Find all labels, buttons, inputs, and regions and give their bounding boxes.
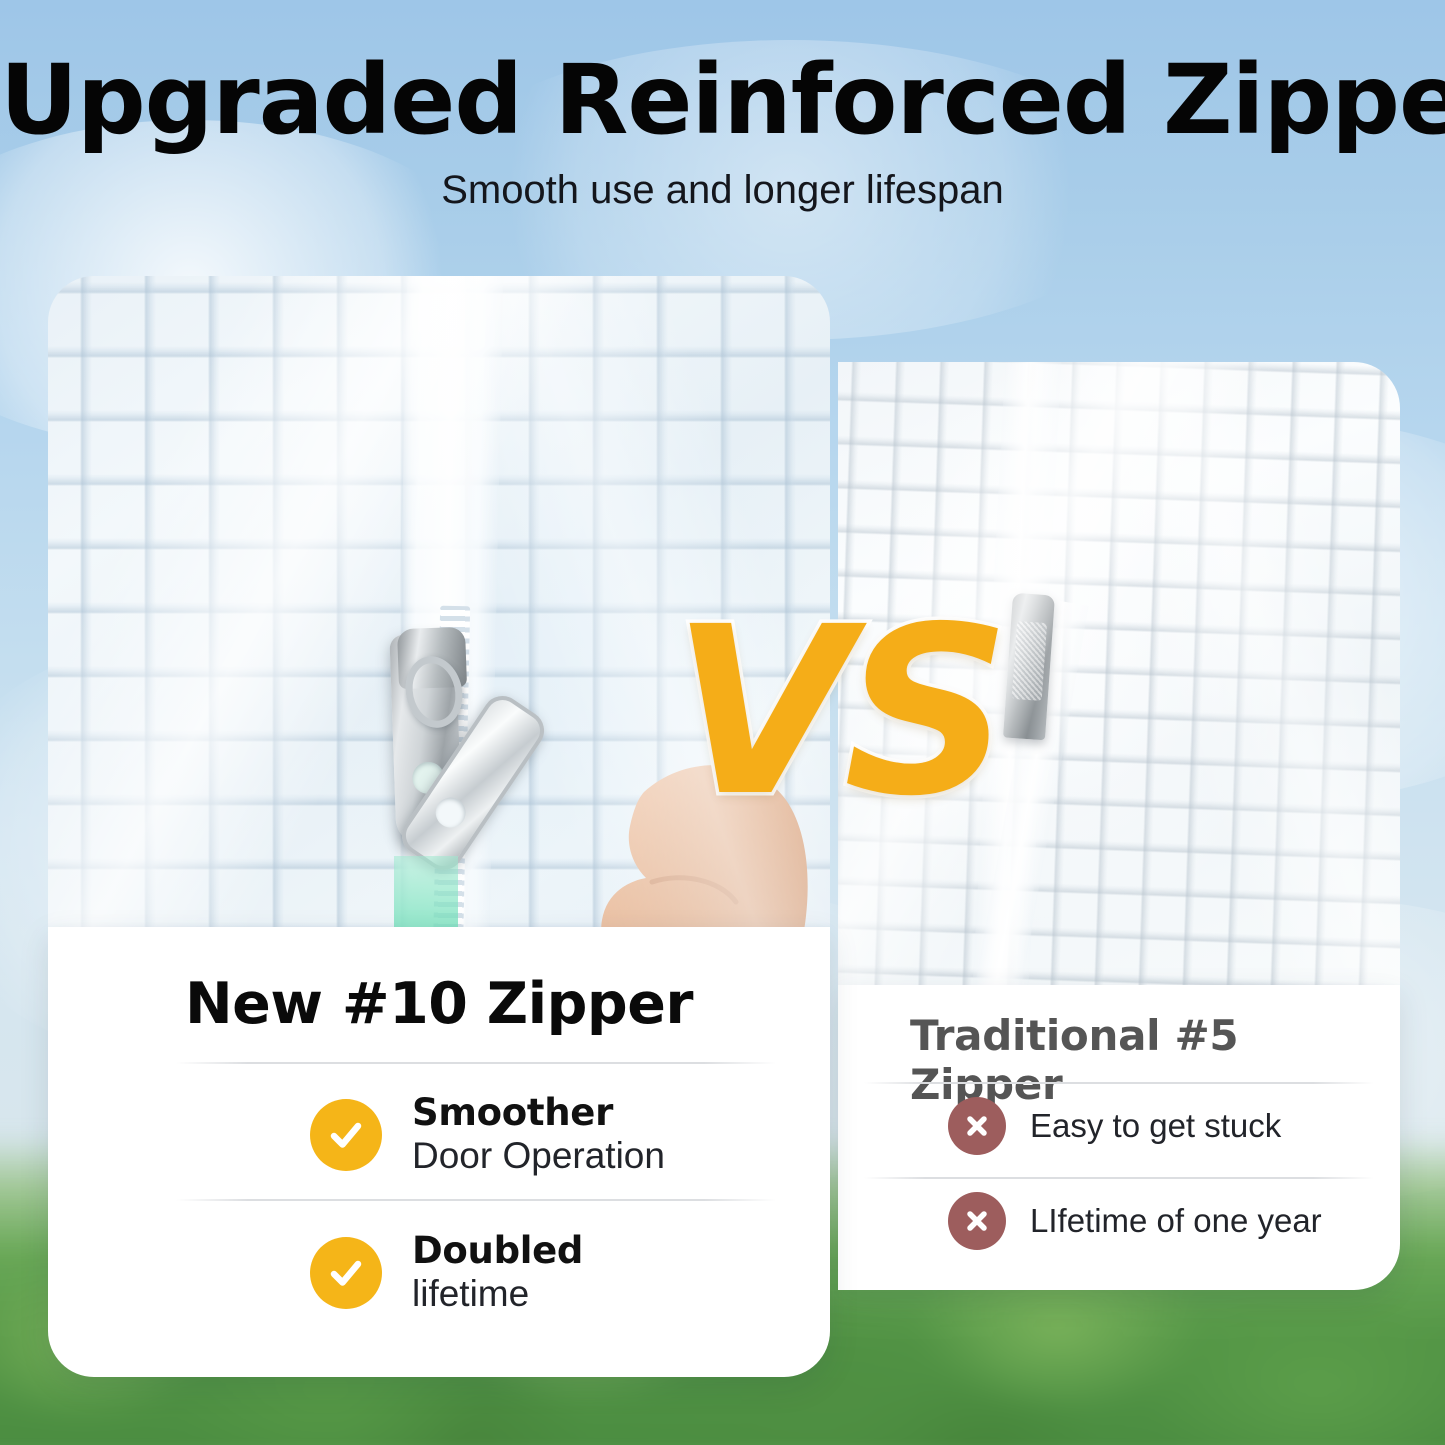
new-zipper-card: New #10 Zipper Smoother Door Operation D… bbox=[48, 927, 830, 1377]
feature-text: Doubled lifetime bbox=[412, 1230, 583, 1317]
page-title: Upgraded Reinforced Zipper bbox=[0, 44, 1445, 156]
divider bbox=[864, 1082, 1374, 1084]
traditional-zipper-card: Traditional #5 Zipper Easy to get stuck … bbox=[838, 985, 1400, 1290]
vs-badge: VS bbox=[672, 596, 1003, 828]
feature-detail: Door Operation bbox=[412, 1133, 665, 1178]
feature-row: Doubled lifetime bbox=[310, 1230, 583, 1317]
check-icon bbox=[310, 1099, 382, 1171]
cross-icon bbox=[948, 1097, 1006, 1155]
check-icon bbox=[310, 1237, 382, 1309]
page-subtitle: Smooth use and longer lifespan bbox=[0, 168, 1445, 213]
new-zipper-card-title: New #10 Zipper bbox=[48, 971, 830, 1037]
divider bbox=[864, 1177, 1374, 1179]
infographic-poster: VS Upgraded Reinforced Zipper Smooth use… bbox=[0, 0, 1445, 1445]
cross-icon bbox=[948, 1192, 1006, 1250]
traditional-zipper-card-title: Traditional #5 Zipper bbox=[910, 1011, 1400, 1109]
divider bbox=[176, 1062, 776, 1064]
feature-detail: lifetime bbox=[412, 1271, 583, 1316]
drawback-text: Easy to get stuck bbox=[1030, 1107, 1281, 1145]
divider bbox=[176, 1199, 776, 1201]
feature-text: Smoother Door Operation bbox=[412, 1092, 665, 1179]
feature-title: Smoother bbox=[412, 1092, 665, 1133]
drawback-text: LIfetime of one year bbox=[1030, 1202, 1322, 1240]
drawback-row: LIfetime of one year bbox=[948, 1192, 1322, 1250]
drawback-row: Easy to get stuck bbox=[948, 1097, 1281, 1155]
feature-title: Doubled bbox=[412, 1230, 583, 1271]
feature-row: Smoother Door Operation bbox=[310, 1092, 665, 1179]
